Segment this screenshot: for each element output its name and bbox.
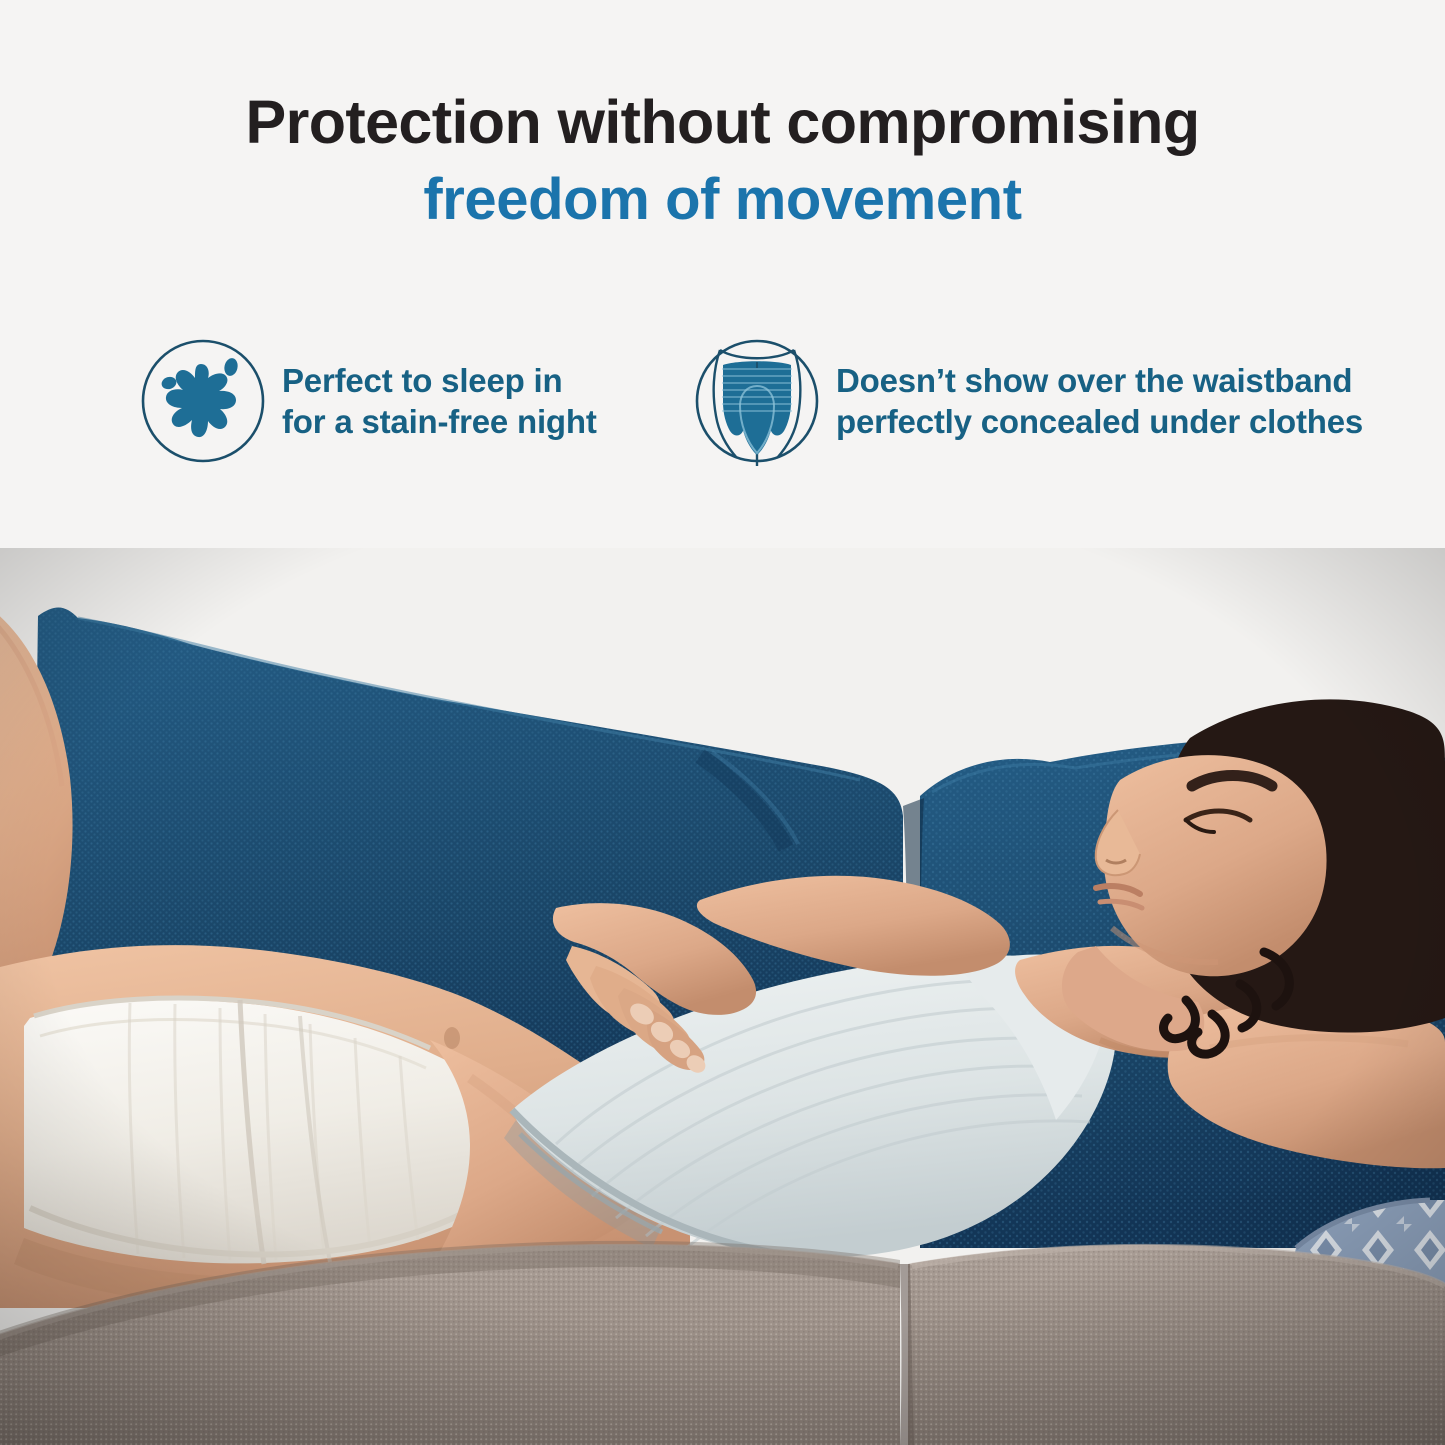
product-feature-banner: Protection without compromising freedom …	[0, 0, 1445, 1445]
page-title: Protection without compromising	[0, 86, 1445, 158]
badge-line-2: for a stain-free night	[282, 401, 597, 442]
lifestyle-photo	[0, 548, 1445, 1445]
badge-line-1: Perfect to sleep in	[282, 362, 562, 399]
feature-badge-discreet: Doesn’t show over the waistband perfectl…	[692, 336, 1363, 466]
feature-badge-discreet-label: Doesn’t show over the waistband perfectl…	[836, 360, 1363, 442]
page-subtitle: freedom of movement	[0, 166, 1445, 234]
feature-badge-row: Perfect to sleep in for a stain-free nig…	[0, 336, 1445, 486]
ink-splash-icon	[138, 336, 268, 466]
badge-line-2: perfectly concealed under clothes	[836, 401, 1363, 442]
header-text-block: Protection without compromising freedom …	[0, 86, 1445, 234]
absorbent-underwear-icon	[692, 336, 822, 466]
badge-line-1: Doesn’t show over the waistband	[836, 362, 1352, 399]
feature-badge-sleep: Perfect to sleep in for a stain-free nig…	[138, 336, 597, 466]
feature-badge-sleep-label: Perfect to sleep in for a stain-free nig…	[282, 360, 597, 442]
